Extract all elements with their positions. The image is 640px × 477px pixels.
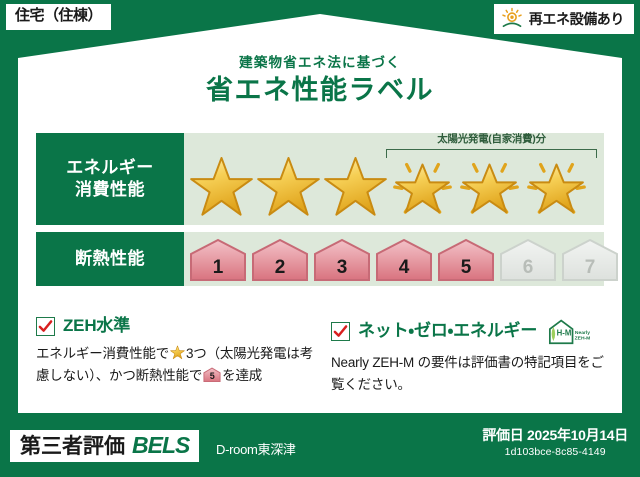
criterion-title: ZEH水準 <box>63 317 130 336</box>
insulation-grade-badge-inactive: 7 <box>560 237 620 281</box>
criterion-heading: ネット・ゼロ・エネルギー H-M Nearly ZEH-M <box>331 317 608 345</box>
energy-performance-label-box: エネルギー 消費性能 <box>36 133 184 225</box>
star-filled-solar <box>523 154 590 220</box>
dwelling-type-badge: 住宅（住棟） <box>6 4 111 30</box>
criteria-section: ZEH水準 エネルギー消費性能で3つ（太陽光発電は考慮しない）、かつ断熱性能で5… <box>36 317 608 396</box>
label-footer: 第三者評価 BELS D-room東深津 評価日 2025年10月14日 1d1… <box>0 417 640 477</box>
star-icon <box>170 345 185 360</box>
insulation-grade-badge-inactive: 6 <box>498 237 558 281</box>
label-title-block: 建築物省エネ法に基づく 省エネ性能ラベル <box>18 55 622 108</box>
insulation-grade-badge: 3 <box>312 237 372 281</box>
evaluation-date: 評価日 2025年10月14日 <box>482 427 628 445</box>
solar-bracket-label: 太陽光発電(自家消費)分 <box>386 134 597 146</box>
dwelling-type-label: 住宅（住棟） <box>15 7 102 24</box>
evaluation-info: 評価日 2025年10月14日 1d103bce-8c85-4149 <box>482 427 628 459</box>
bels-certification-badge: 第三者評価 BELS <box>10 430 199 462</box>
insulation-grades-area: 1 2 3 <box>184 232 604 286</box>
star-filled-solar <box>389 154 456 220</box>
svg-text:ZEH-M: ZEH-M <box>575 336 591 342</box>
insulation-grade-badge: 1 <box>188 237 248 281</box>
criterion-heading: ZEH水準 <box>36 317 313 336</box>
energy-performance-row: エネルギー 消費性能 太陽光発電(自家消費)分 <box>36 133 604 225</box>
criterion-title: ネット・ゼロ・エネルギー <box>358 322 537 341</box>
bels-en-label: BELS <box>132 433 189 458</box>
svg-text:H-M: H-M <box>557 328 572 337</box>
checkbox-checked-icon <box>36 317 55 336</box>
label-title: 省エネ性能ラベル <box>18 74 622 108</box>
insulation-grade-badge: 4 <box>374 237 434 281</box>
criterion-description: Nearly ZEH-M の要件は評価書の特記項目をご覧ください。 <box>331 352 608 396</box>
insulation-grade-number: 5 <box>436 237 496 281</box>
insulation-grade-badge: 2 <box>250 237 310 281</box>
bels-jp-label: 第三者評価 <box>20 435 125 458</box>
insulation-performance-row: 断熱性能 1 <box>36 232 604 286</box>
star-filled <box>255 154 322 220</box>
label-subtitle: 建築物省エネ法に基づく <box>18 55 622 71</box>
insulation-grade-number: 1 <box>188 237 248 281</box>
insulation-grade-number: 6 <box>498 237 558 281</box>
renewable-equipment-badge: 再エネ設備あり <box>494 4 634 34</box>
inline-grade-number: 5 <box>203 367 221 382</box>
criterion-text-part3: を達成 <box>222 368 262 383</box>
checkbox-checked-icon <box>331 322 350 341</box>
insulation-grade-number: 3 <box>312 237 372 281</box>
insulation-grade-number: 7 <box>560 237 620 281</box>
insulation-grade-number: 4 <box>374 237 434 281</box>
insulation-grade-badge: 5 <box>436 237 496 281</box>
criterion-zeh-standard: ZEH水準 エネルギー消費性能で3つ（太陽光発電は考慮しない）、かつ断熱性能で5… <box>36 317 313 396</box>
insulation-performance-label-box: 断熱性能 <box>36 232 184 286</box>
star-filled <box>322 154 389 220</box>
property-name: D-room東深津 <box>216 443 296 457</box>
insulation-grade-inline-badge: 5 <box>203 367 221 382</box>
insulation-grade-scale: 1 2 3 <box>184 232 604 286</box>
star-rating <box>184 151 604 223</box>
criterion-text-part1: エネルギー消費性能で <box>36 346 169 361</box>
evaluation-id: 1d103bce-8c85-4149 <box>482 446 628 460</box>
sun-icon <box>500 7 524 31</box>
criterion-net-zero-energy: ネット・ゼロ・エネルギー H-M Nearly ZEH-M Nearly ZEH… <box>331 317 608 396</box>
renewable-equipment-label: 再エネ設備あり <box>529 12 624 26</box>
energy-label-line1: エネルギー <box>66 157 154 179</box>
energy-performance-label: 住宅（住棟） 再エネ設備あり 建築物省エネ法に基づく 省エネ性能ラベル <box>0 0 640 477</box>
insulation-grade-number: 2 <box>250 237 310 281</box>
svg-text:Nearly: Nearly <box>575 330 590 336</box>
energy-label-line2: 消費性能 <box>75 179 145 201</box>
performance-rows: エネルギー 消費性能 太陽光発電(自家消費)分 <box>36 133 604 293</box>
star-filled <box>188 154 255 220</box>
insulation-label-line1: 断熱性能 <box>75 248 145 270</box>
criterion-description: エネルギー消費性能で3つ（太陽光発電は考慮しない）、かつ断熱性能で5を達成 <box>36 343 313 387</box>
nearly-zeh-m-logo-icon: H-M Nearly ZEH-M <box>547 317 591 345</box>
star-filled-solar <box>456 154 523 220</box>
energy-stars-area: 太陽光発電(自家消費)分 <box>184 133 604 225</box>
